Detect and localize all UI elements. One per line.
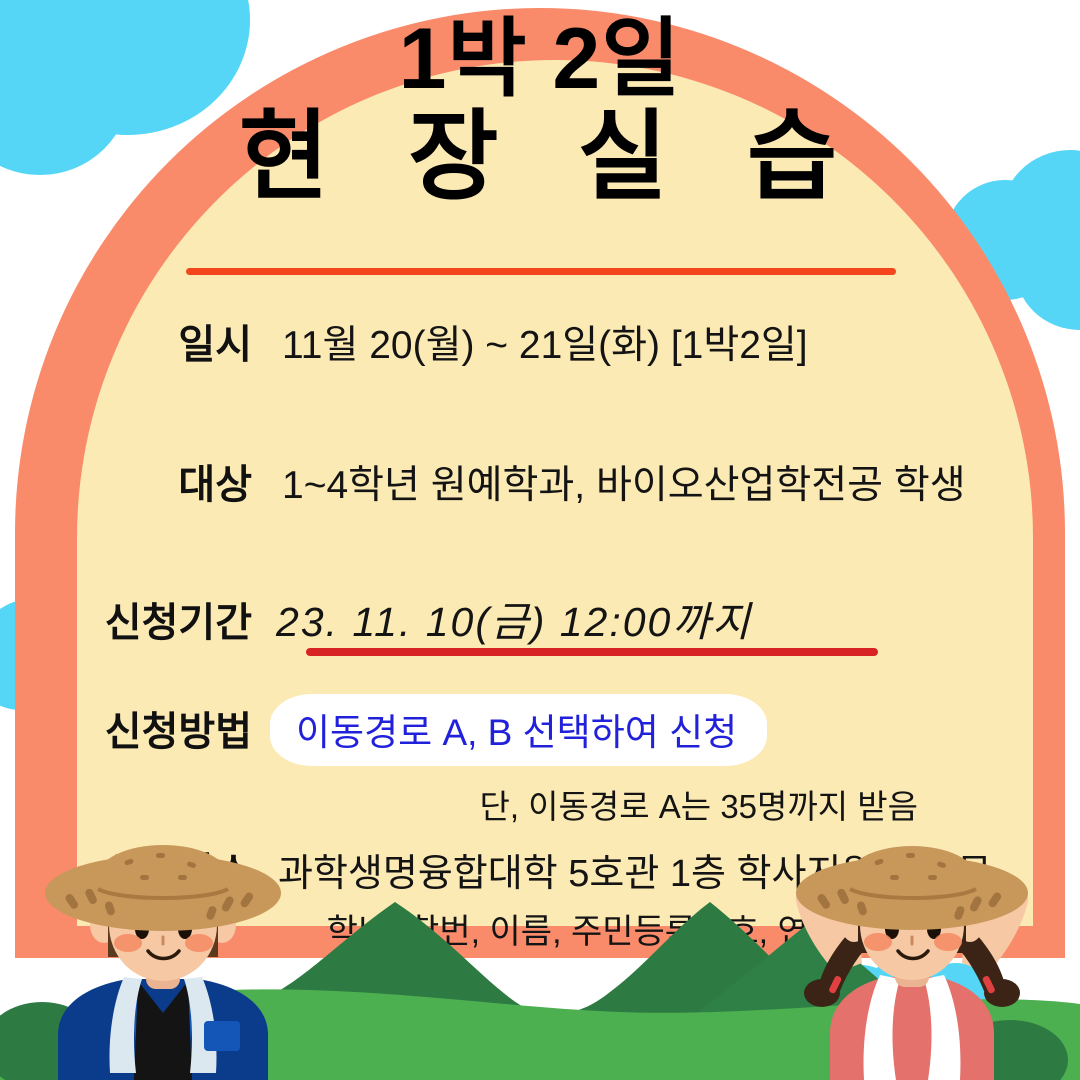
title-divider [186,268,896,275]
boy-cheek-left [114,934,142,952]
info-label-period: 신청기간 [62,590,252,648]
info-value-target: 1~4학년 원예학과, 바이오산업학전공 학생 [282,454,966,510]
info-value-period: 23. 11. 10(금) 12:00까지 [276,588,752,648]
info-row-target: 대상 1~4학년 원예학과, 바이오산업학전공 학생 [62,452,1018,510]
boy-farmer-character [28,845,298,1080]
info-value-method: 이동경로 A, B 선택하여 신청 [296,712,737,753]
boy-cheek-right [185,934,213,952]
boy-pocket [204,1021,240,1051]
girl-shirt [830,977,994,1080]
info-value-note: 단, 이동경로 A는 35명까지 받음 [479,788,918,825]
method-highlight-pill: 이동경로 A, B 선택하여 신청 [270,694,767,766]
info-row-date: 일시 11월 20(월) ~ 21일(화) [1박2일] [62,312,1018,370]
girl-cheek-left [864,933,892,951]
poster-canvas: 1박 2일 현 장 실 습 일시 11월 20(월) ~ 21일(화) [1박2… [0,0,1080,1080]
info-row-period: 신청기간 23. 11. 10(금) 12:00까지 [62,588,1018,648]
info-label-target: 대상 [80,452,252,510]
title-line-2: 현 장 실 습 [62,104,1018,210]
title-line-1: 1박 2일 [62,14,1018,104]
info-row-note: 단, 이동경로 A는 35명까지 받음 [62,780,1018,828]
poster-headline: 1박 2일 현 장 실 습 [62,14,1018,210]
girl-cheek-right [934,933,962,951]
info-value-date: 11월 20(월) ~ 21일(화) [1박2일] [282,314,808,370]
period-underline [306,648,878,656]
girl-farmer-character [762,845,1062,1080]
info-label-date: 일시 [80,312,252,370]
info-label-method: 신청방법 [62,699,252,757]
info-row-method: 신청방법 이동경로 A, B 선택하여 신청 [62,694,1018,766]
